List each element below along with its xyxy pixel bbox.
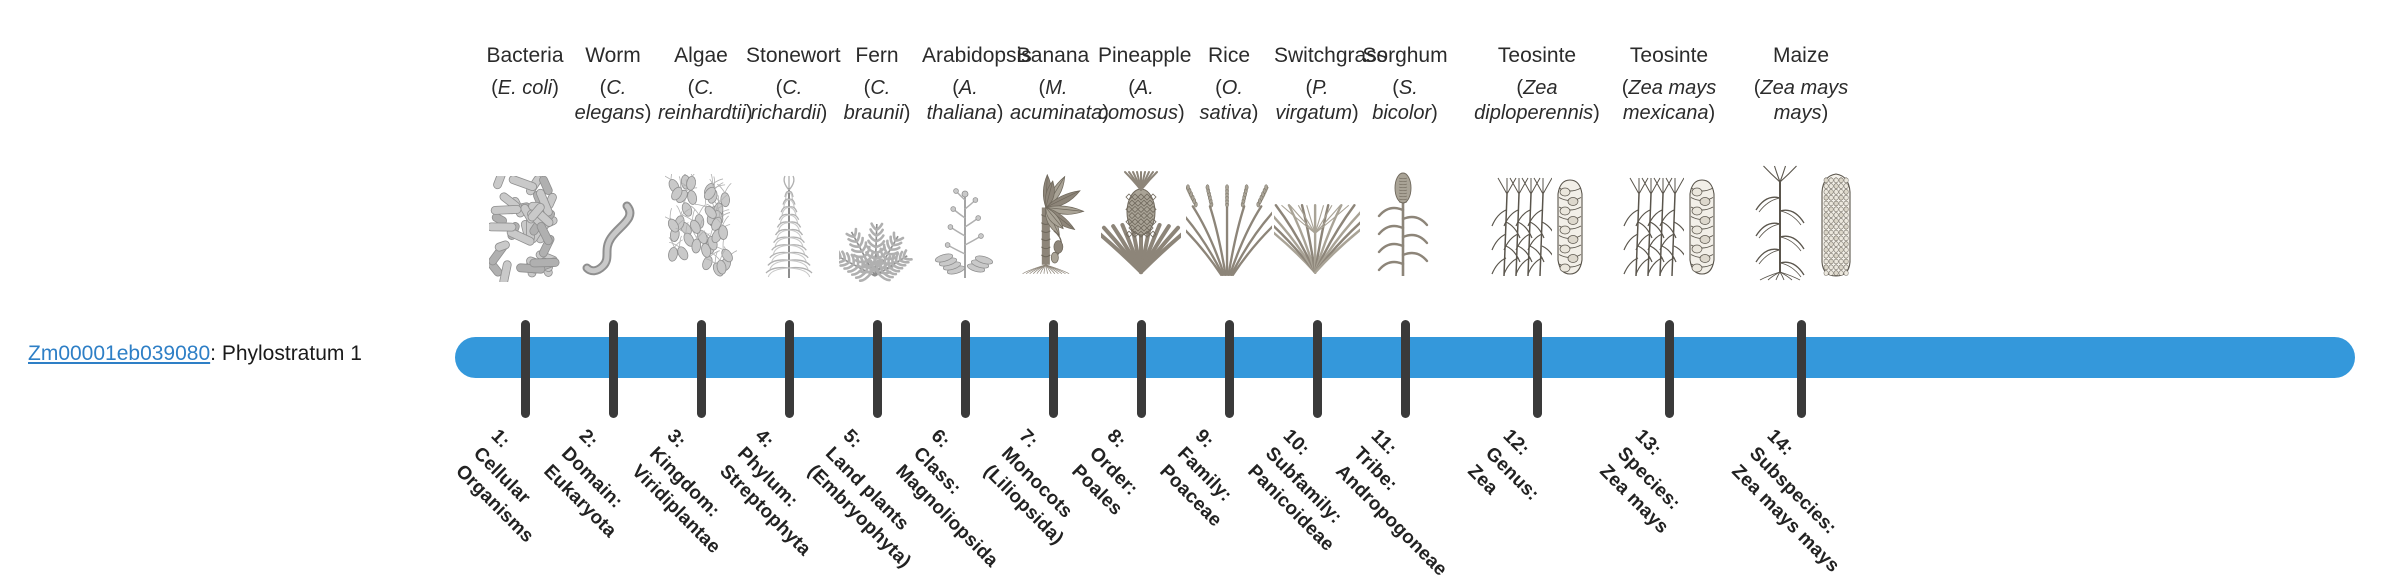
species-common-name: Teosinte (1473, 42, 1601, 69)
species-common-name: Worm (570, 42, 656, 69)
species-common-name: Sorghum (1362, 42, 1448, 69)
species-scientific-name: (Zea diploperennis) (1473, 76, 1601, 126)
sorghum-plant-illustration (1362, 162, 1448, 282)
switchgrass-plant-illustration (1274, 162, 1360, 282)
phylostratigraphy-diagram: Zm00001eb039080: Phylostratum 1 Bacteria… (0, 0, 2400, 580)
gene-id-link[interactable]: Zm00001eb039080 (28, 342, 210, 365)
species-common-name: Stonewort (746, 42, 832, 69)
species-common-name: Rice (1186, 42, 1272, 69)
species-common-name: Arabidopsis (922, 42, 1008, 69)
species-scientific-name: (S. bicolor) (1362, 76, 1448, 126)
pineapple-plant-illustration (1098, 162, 1184, 282)
stonewort-alga-illustration (746, 162, 832, 282)
bacteria-rods-illustration (482, 162, 568, 282)
fern-frond-illustration (834, 162, 920, 282)
species-scientific-name: (C. braunii) (834, 76, 920, 126)
maize-plant-and-ear-illustration (1737, 162, 1865, 282)
species-scientific-name: (P. virgatum) (1274, 76, 1360, 126)
species-common-name: Switchgrass (1274, 42, 1360, 69)
teosinte-plant-and-ear-illustration (1473, 162, 1601, 282)
nematode-worm-illustration (570, 162, 656, 282)
species-common-name: Banana (1010, 42, 1096, 69)
species-scientific-name: (Zea mays mays) (1737, 76, 1865, 126)
species-scientific-name: (M. acuminata) (1010, 76, 1096, 126)
banana-plant-illustration (1010, 162, 1096, 282)
species-scientific-name: (E. coli) (482, 76, 568, 101)
species-common-name: Teosinte (1605, 42, 1733, 69)
gene-phylostratum-label: Zm00001eb039080: Phylostratum 1 (28, 341, 448, 367)
gene-label-separator: : (210, 342, 222, 365)
species-common-name: Maize (1737, 42, 1865, 69)
green-algae-cells-illustration (658, 162, 744, 282)
species-common-name: Fern (834, 42, 920, 69)
teosinte-mexicana-plant-and-ear-illustration (1605, 162, 1733, 282)
species-common-name: Algae (658, 42, 744, 69)
species-scientific-name: (C. elegans) (570, 76, 656, 126)
species-common-name: Pineapple (1098, 42, 1184, 69)
species-scientific-name: (Zea mays mexicana) (1605, 76, 1733, 126)
arabidopsis-rosette-illustration (922, 162, 1008, 282)
species-scientific-name: (O. sativa) (1186, 76, 1272, 126)
species-scientific-name: (C. reinhardtii) (658, 76, 744, 126)
rice-plant-illustration (1186, 162, 1272, 282)
species-scientific-name: (C. richardii) (746, 76, 832, 126)
species-common-name: Bacteria (482, 42, 568, 69)
species-scientific-name: (A. comosus) (1098, 76, 1184, 126)
species-scientific-name: (A. thaliana) (922, 76, 1008, 126)
phylostratum-value: Phylostratum 1 (222, 342, 362, 365)
